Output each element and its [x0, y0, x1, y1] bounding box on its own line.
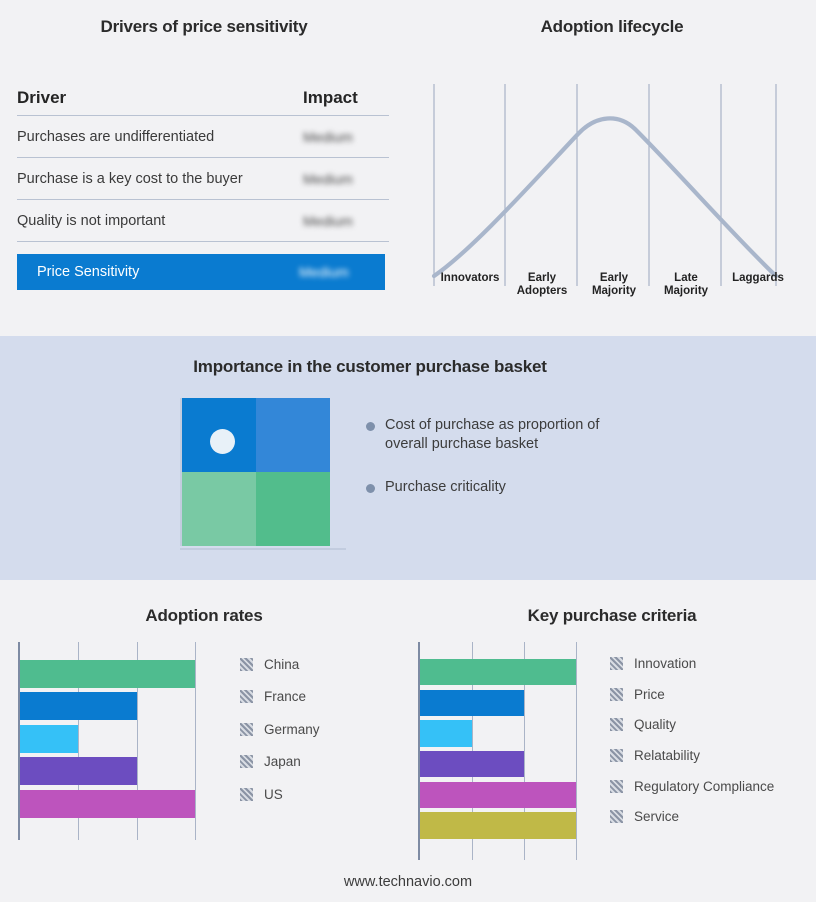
price-sensitivity-summary-row: Price Sensitivity Medium — [17, 254, 385, 290]
adoption-rates-plot — [18, 642, 224, 840]
bullet-icon — [366, 484, 375, 493]
bullet-icon — [366, 422, 375, 431]
bar-slot — [420, 751, 602, 777]
lifecycle-gridlines — [434, 84, 776, 286]
purchase-basket-panel: Importance in the customer purchase bask… — [0, 336, 816, 580]
drivers-table: Driver Impact Purchases are undifferenti… — [17, 88, 389, 290]
legend-item[interactable]: Quality — [610, 709, 774, 740]
key-purchase-criteria-panel: Key purchase criteria InnovationPriceQua… — [408, 580, 816, 902]
legend-label: US — [264, 787, 283, 802]
table-row: Quality is not important Medium — [17, 200, 389, 242]
column-header-driver: Driver — [17, 88, 303, 108]
legend-label: France — [264, 689, 306, 704]
legend-item[interactable]: Price — [610, 679, 774, 710]
bell-curve-chart — [426, 72, 798, 290]
bar-slot — [20, 757, 224, 785]
quadrant-top-right — [256, 398, 330, 472]
legend-label: Quality — [634, 717, 676, 732]
hatch-swatch-icon — [610, 780, 623, 793]
legend-item: Cost of purchase as proportion of overal… — [366, 416, 666, 454]
lifecycle-segment-labels: Innovators Early Adopters Early Majority… — [434, 272, 794, 298]
legend-item: Purchase criticality — [366, 478, 666, 497]
legend-label: Regulatory Compliance — [634, 779, 774, 794]
legend-label: Price — [634, 687, 665, 702]
hatch-swatch-icon — [240, 723, 253, 736]
bar-slot — [20, 660, 224, 688]
table-header-row: Driver Impact — [17, 88, 389, 116]
driver-label: Purchases are undifferentiated — [17, 129, 303, 145]
bar-slot — [420, 659, 602, 685]
segment-line-1: Early — [578, 272, 650, 285]
legend-item[interactable]: China — [240, 648, 320, 680]
bar — [420, 812, 576, 838]
adoption-lifecycle-title: Adoption lifecycle — [408, 17, 816, 37]
legend-item[interactable]: Japan — [240, 745, 320, 777]
hatch-swatch-icon — [240, 755, 253, 768]
segment-line-2: Majority — [578, 285, 650, 298]
hatch-swatch-icon — [240, 658, 253, 671]
bar-slot — [420, 812, 602, 838]
summary-label: Price Sensitivity — [37, 264, 299, 280]
hatch-swatch-icon — [610, 810, 623, 823]
legend-item[interactable]: US — [240, 778, 320, 810]
impact-value: Medium — [303, 213, 389, 229]
legend-label: Relatability — [634, 748, 700, 763]
legend-item[interactable]: Germany — [240, 713, 320, 745]
drivers-panel: Drivers of price sensitivity Driver Impa… — [0, 0, 408, 336]
segment-late-majority: Late Majority — [650, 272, 722, 298]
legend-item[interactable]: Innovation — [610, 648, 774, 679]
bar-slot — [20, 790, 224, 818]
bar-slot — [420, 690, 602, 716]
legend-item[interactable]: Service — [610, 802, 774, 833]
hatch-swatch-icon — [240, 788, 253, 801]
bar — [420, 659, 576, 685]
key-purchase-criteria-plot-area — [418, 642, 602, 860]
infographic-canvas: Drivers of price sensitivity Driver Impa… — [0, 0, 816, 902]
adoption-rates-panel: Adoption rates ChinaFranceGermanyJapanUS — [0, 580, 408, 902]
hatch-swatch-icon — [610, 749, 623, 762]
bar — [20, 790, 195, 818]
segment-early-majority: Early Majority — [578, 272, 650, 298]
legend-item[interactable]: Regulatory Compliance — [610, 771, 774, 802]
impact-value: Medium — [303, 171, 389, 187]
driver-label: Quality is not important — [17, 213, 303, 229]
key-purchase-criteria-plot — [418, 642, 602, 860]
segment-line-2: Laggards — [722, 272, 794, 285]
legend-label: Japan — [264, 754, 301, 769]
bar — [20, 757, 137, 785]
drivers-title: Drivers of price sensitivity — [0, 17, 408, 37]
bar-slot — [420, 720, 602, 746]
quadrant-bottom-left — [182, 472, 256, 546]
adoption-lifecycle-panel: Adoption lifecycle Innovators Early Adop… — [408, 0, 816, 336]
bar-slot — [20, 692, 224, 720]
bar-slot — [20, 725, 224, 753]
bar — [20, 692, 137, 720]
bar — [420, 720, 472, 746]
quadrant-matrix — [180, 398, 330, 546]
adoption-rates-legend: ChinaFranceGermanyJapanUS — [240, 648, 320, 810]
hatch-swatch-icon — [610, 657, 623, 670]
quadrant-matrix-wrapper — [180, 398, 330, 546]
summary-impact-value: Medium — [299, 264, 385, 280]
legend-item[interactable]: France — [240, 680, 320, 712]
position-marker-dot — [210, 429, 235, 454]
legend-item[interactable]: Relatability — [610, 740, 774, 771]
purchase-basket-legend: Cost of purchase as proportion of overal… — [366, 416, 666, 521]
segment-line-2: Majority — [650, 285, 722, 298]
table-row: Purchase is a key cost to the buyer Medi… — [17, 158, 389, 200]
segment-line-2: Innovators — [434, 272, 506, 285]
segment-line-1: Early — [506, 272, 578, 285]
footer-url: www.technavio.com — [0, 874, 816, 890]
purchase-basket-title: Importance in the customer purchase bask… — [0, 357, 740, 377]
bar — [20, 660, 195, 688]
bar — [20, 725, 78, 753]
key-purchase-criteria-title: Key purchase criteria — [408, 606, 816, 626]
adoption-rates-title: Adoption rates — [0, 606, 408, 626]
legend-label: Purchase criticality — [385, 478, 506, 497]
hatch-swatch-icon — [240, 690, 253, 703]
segment-line-1: Late — [650, 272, 722, 285]
adoption-rates-plot-area — [18, 642, 224, 840]
adoption-curve-path — [434, 118, 776, 276]
legend-label: Service — [634, 809, 679, 824]
segment-innovators: Innovators — [434, 272, 506, 298]
segment-early-adopters: Early Adopters — [506, 272, 578, 298]
bar-slot — [420, 782, 602, 808]
segment-laggards: Laggards — [722, 272, 794, 298]
segment-line-2: Adopters — [506, 285, 578, 298]
column-header-impact: Impact — [303, 88, 389, 108]
bar — [420, 751, 524, 777]
legend-label: Germany — [264, 722, 320, 737]
legend-label: Innovation — [634, 656, 696, 671]
driver-label: Purchase is a key cost to the buyer — [17, 171, 303, 187]
bar — [420, 690, 524, 716]
hatch-swatch-icon — [610, 718, 623, 731]
hatch-swatch-icon — [610, 688, 623, 701]
legend-label: Cost of purchase as proportion of overal… — [385, 416, 640, 454]
legend-label: China — [264, 657, 299, 672]
matrix-baseline-axis — [180, 548, 346, 550]
key-purchase-criteria-legend: InnovationPriceQualityRelatabilityRegula… — [610, 648, 774, 832]
impact-value: Medium — [303, 129, 389, 145]
quadrant-bottom-right — [256, 472, 330, 546]
bar — [420, 782, 576, 808]
table-row: Purchases are undifferentiated Medium — [17, 116, 389, 158]
